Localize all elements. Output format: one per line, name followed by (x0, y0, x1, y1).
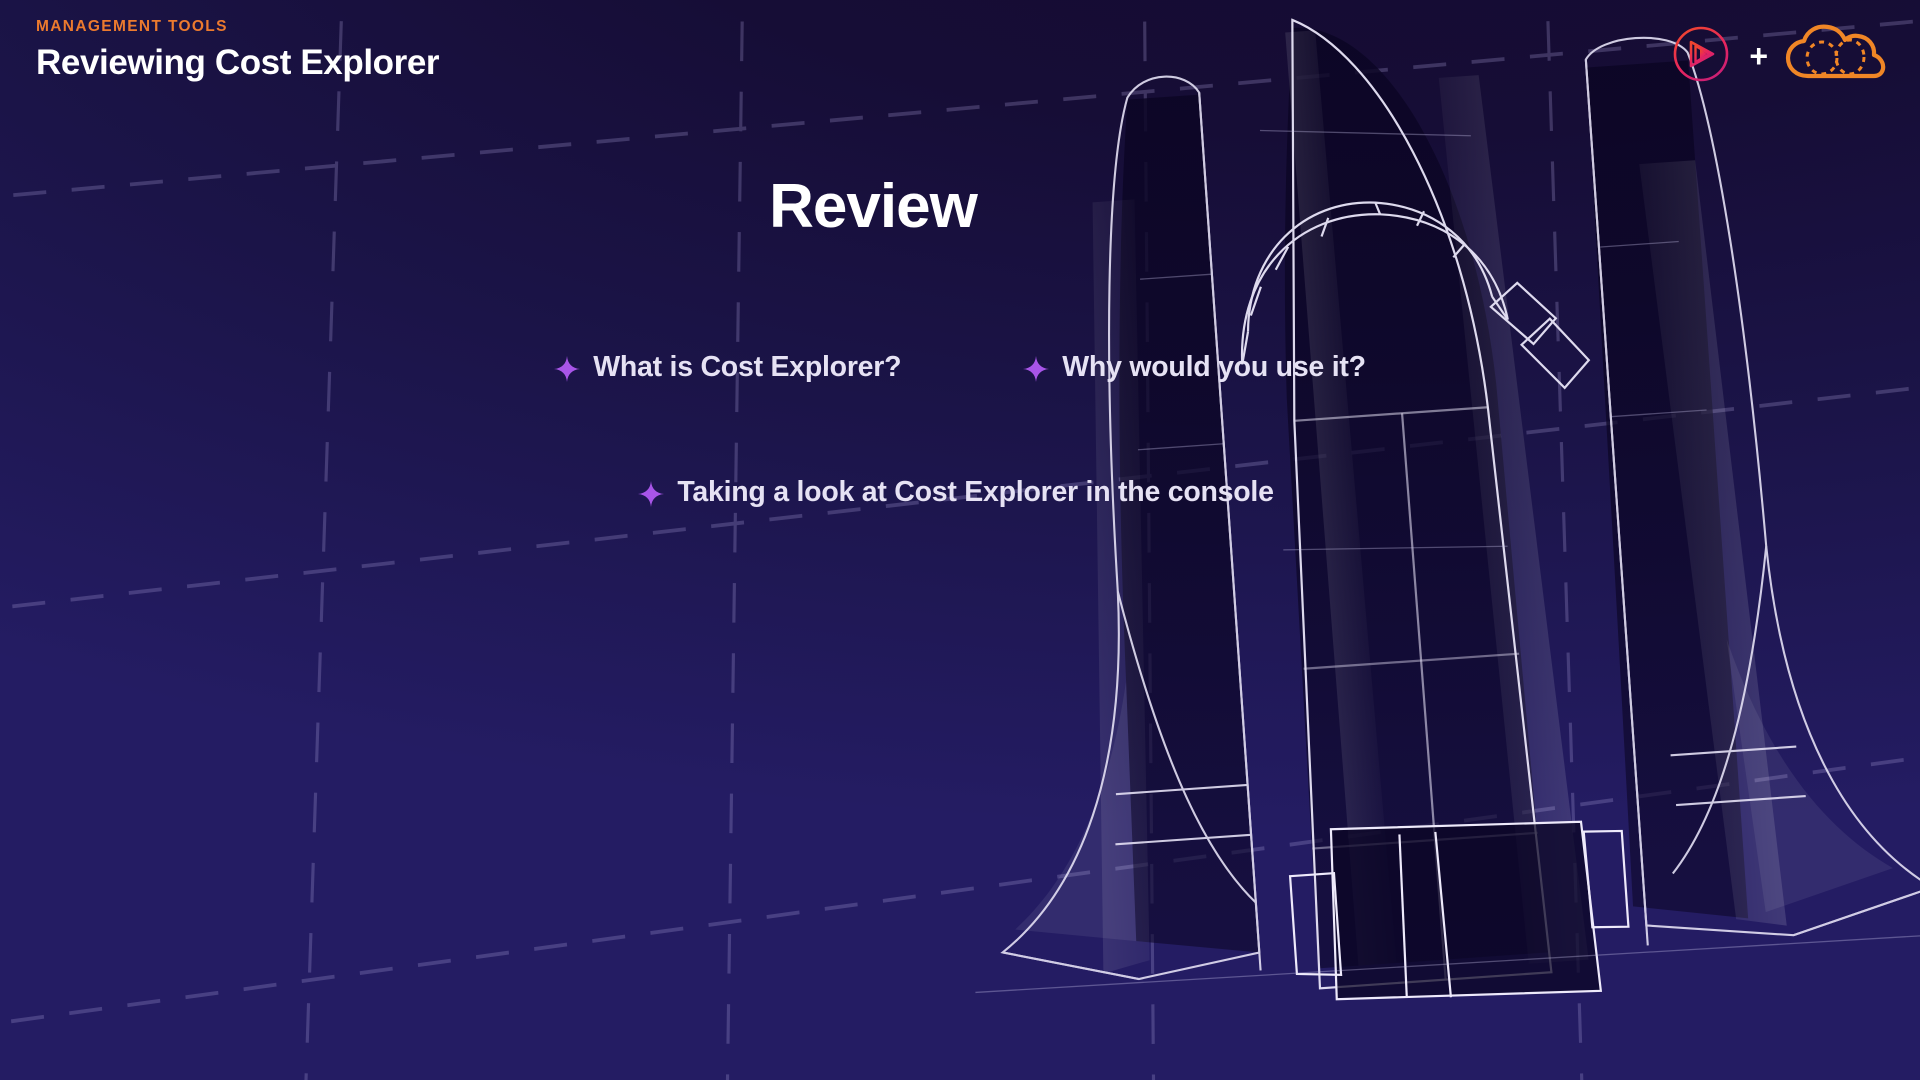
bullet-row-top: What is Cost Explorer? Why would you use… (0, 352, 1920, 383)
sparkle-icon (554, 356, 580, 382)
rocket-blueprint-illustration (860, 0, 1920, 1080)
brand-logo-bar: + (1669, 22, 1888, 91)
deck-title: Reviewing Cost Explorer (36, 44, 439, 82)
deck-header: MANAGEMENT TOOLS Reviewing Cost Explorer (36, 18, 439, 82)
list-item: Taking a look at Cost Explorer in the co… (638, 477, 1273, 508)
plus-separator: + (1749, 40, 1768, 72)
dashed-perspective-grid (0, 0, 1920, 1080)
acloudguru-play-logo (1669, 22, 1733, 91)
list-item-label: What is Cost Explorer? (593, 352, 901, 383)
slide-heading-text: Review (769, 176, 977, 238)
slide-canvas: MANAGEMENT TOOLS Reviewing Cost Explorer (0, 0, 1920, 1080)
aws-cloud-logo (1784, 22, 1888, 91)
sparkle-icon (1023, 356, 1049, 382)
page-title: Review (0, 176, 1920, 238)
list-item: Why would you use it? (1023, 352, 1366, 383)
bullet-list: What is Cost Explorer? Why would you use… (0, 352, 1920, 509)
list-item-label: Why would you use it? (1062, 352, 1366, 383)
bullet-row-bottom: Taking a look at Cost Explorer in the co… (0, 477, 1920, 508)
deck-category-eyebrow: MANAGEMENT TOOLS (36, 18, 439, 35)
list-item: What is Cost Explorer? (554, 352, 901, 383)
sparkle-icon (638, 481, 664, 507)
list-item-label: Taking a look at Cost Explorer in the co… (677, 477, 1273, 508)
